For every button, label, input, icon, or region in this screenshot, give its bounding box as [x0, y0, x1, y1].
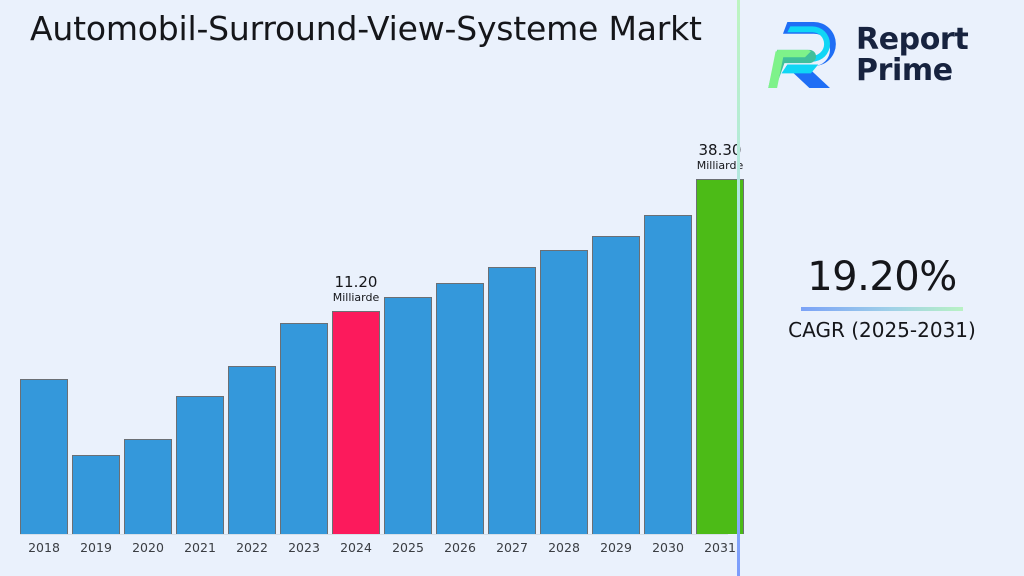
bar-rect-2023[interactable]: [280, 323, 328, 534]
bar-2030[interactable]: [644, 215, 692, 534]
bar-2027[interactable]: [488, 267, 536, 534]
bar-rect-2021[interactable]: [176, 396, 224, 534]
brand-line-1: Report: [856, 22, 968, 57]
bar-2019[interactable]: [72, 455, 120, 534]
bar-rect-2018[interactable]: [20, 379, 68, 534]
x-axis-tick-2023: 2023: [276, 540, 332, 556]
x-axis-tick-2028: 2028: [536, 540, 592, 556]
x-axis-tick-2022: 2022: [224, 540, 280, 556]
bar-rect-2024[interactable]: [332, 311, 380, 534]
x-axis-tick-2018: 2018: [16, 540, 72, 556]
bar-rect-2030[interactable]: [644, 215, 692, 534]
brand-wordmark: Report Prime: [856, 24, 968, 86]
bar-rect-2029[interactable]: [592, 236, 640, 534]
x-axis-tick-2019: 2019: [68, 540, 124, 556]
bar-rect-2026[interactable]: [436, 283, 484, 534]
bar-2021[interactable]: [176, 396, 224, 534]
x-axis-line: [20, 534, 728, 535]
bar-2023[interactable]: [280, 323, 328, 534]
bar-2025[interactable]: [384, 297, 432, 534]
chart-panel: Automobil-Surround-View-Systeme Markt 20…: [0, 0, 737, 576]
chart-infographic: Automobil-Surround-View-Systeme Markt 20…: [0, 0, 1024, 576]
bar-2022[interactable]: [228, 366, 276, 534]
bar-rect-2020[interactable]: [124, 439, 172, 534]
bar-rect-2019[interactable]: [72, 455, 120, 534]
bar-2028[interactable]: [540, 250, 588, 534]
cagr-caption: CAGR (2025-2031): [740, 317, 1024, 343]
bar-2029[interactable]: [592, 236, 640, 534]
bar-rect-2028[interactable]: [540, 250, 588, 534]
report-prime-logo: Report Prime: [768, 14, 1004, 96]
side-panel: Report Prime 19.20% CAGR (2025-2031): [740, 0, 1024, 576]
cagr-value: 19.20%: [740, 252, 1024, 302]
x-axis-tick-2027: 2027: [484, 540, 540, 556]
bar-rect-2025[interactable]: [384, 297, 432, 534]
bar-rect-2022[interactable]: [228, 366, 276, 534]
bar-2026[interactable]: [436, 283, 484, 534]
x-axis-tick-2029: 2029: [588, 540, 644, 556]
x-axis-tick-2021: 2021: [172, 540, 228, 556]
x-axis-tick-2025: 2025: [380, 540, 436, 556]
x-axis-tick-2030: 2030: [640, 540, 696, 556]
bar-2020[interactable]: [124, 439, 172, 534]
x-axis-tick-2024: 2024: [328, 540, 384, 556]
bar-2018[interactable]: [20, 379, 68, 534]
x-axis-tick-2020: 2020: [120, 540, 176, 556]
bar-rect-2027[interactable]: [488, 267, 536, 534]
bar-2024[interactable]: 11.20Milliarde: [332, 311, 380, 534]
cagr-divider-rule: [801, 307, 963, 311]
brand-line-2: Prime: [856, 53, 953, 88]
cagr-block: 19.20% CAGR (2025-2031): [740, 252, 1024, 343]
report-prime-logo-mark-icon: [768, 19, 842, 91]
page-title: Automobil-Surround-View-Systeme Markt: [30, 8, 702, 50]
x-axis-tick-2026: 2026: [432, 540, 488, 556]
